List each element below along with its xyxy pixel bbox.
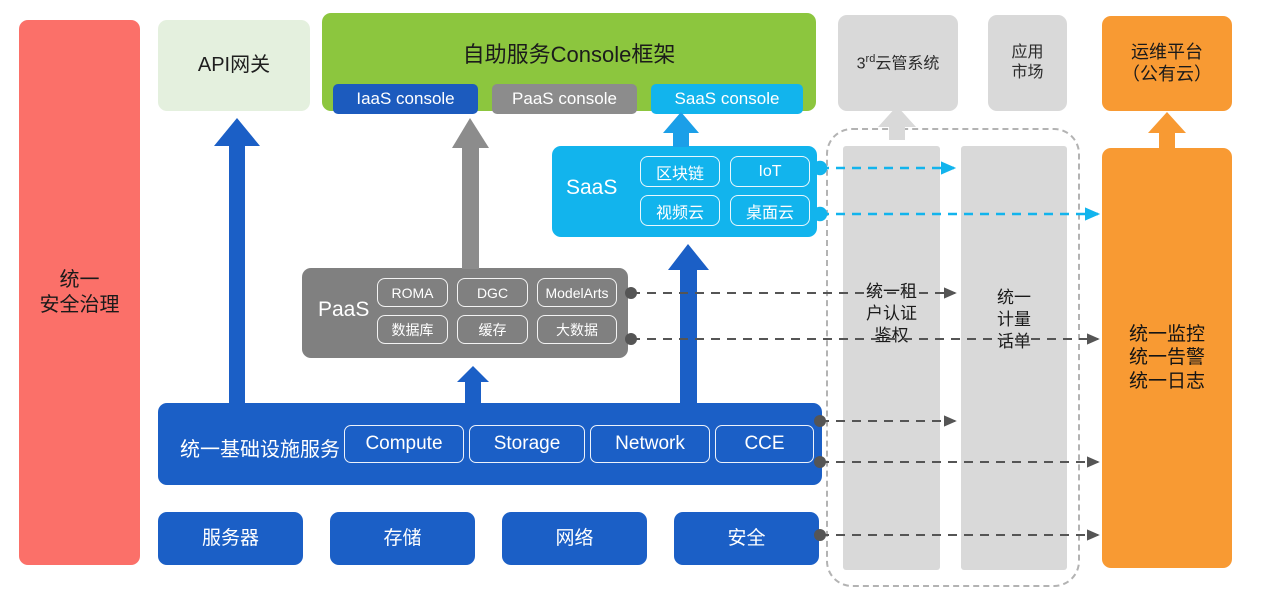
metering-line1: 统一 [961, 287, 1067, 309]
tenant-auth-label: 统一租 户认证 鉴权 [843, 281, 940, 346]
saas-item-desktop-cloud-label: 桌面云 [746, 199, 794, 223]
paas-item-roma[interactable]: ROMA [377, 278, 448, 307]
tenant-auth-line3: 鉴权 [843, 325, 940, 347]
security-label-line1: 统一 [60, 268, 100, 292]
infrastructure-label: 统一基础设施服务 [180, 433, 340, 462]
saas-item-desktop-cloud[interactable]: 桌面云 [730, 195, 810, 226]
paas-item-dgc-label: DGC [477, 285, 508, 301]
third-party-label: 3rd云管系统 [857, 53, 940, 74]
paas-item-dgc[interactable]: DGC [457, 278, 528, 307]
saas-item-video-cloud-label: 视频云 [656, 199, 704, 223]
tenant-auth-column [843, 146, 940, 570]
ops-platform-box[interactable]: 运维平台 （公有云） [1102, 16, 1232, 111]
security-label-line2: 安全治理 [40, 293, 120, 317]
paas-item-bigdata-label: 大数据 [556, 320, 598, 340]
arrow-monitoring-to-ops-platform [1148, 112, 1186, 150]
infra-item-compute[interactable]: Compute [344, 425, 464, 463]
arrow-paas-to-console [452, 118, 489, 269]
saas-item-blockchain-label: 区块链 [656, 160, 704, 184]
saas-item-iot[interactable]: IoT [730, 156, 810, 187]
console-chip-paas-label: PaaS console [512, 89, 617, 109]
paas-item-modelarts-label: ModelArts [545, 285, 608, 301]
infra-item-cce[interactable]: CCE [715, 425, 814, 463]
app-market-box[interactable]: 应用 市场 [988, 15, 1067, 111]
third-party-cloud-box[interactable]: 3rd云管系统 [838, 15, 958, 111]
hardware-item-storage[interactable]: 存储 [330, 512, 475, 565]
saas-item-video-cloud[interactable]: 视频云 [640, 195, 720, 226]
console-chip-paas[interactable]: PaaS console [492, 84, 637, 114]
infra-item-storage[interactable]: Storage [469, 425, 585, 463]
saas-label: SaaS [566, 176, 617, 200]
monitoring-line3: 统一日志 [1129, 370, 1205, 393]
hardware-item-network[interactable]: 网络 [502, 512, 647, 565]
ops-platform-line1: 运维平台 [1131, 42, 1203, 64]
metering-line2: 计量 [961, 309, 1067, 331]
infra-item-storage-label: Storage [494, 433, 561, 455]
console-chip-iaas[interactable]: IaaS console [333, 84, 478, 114]
paas-label: PaaS [318, 298, 369, 322]
console-chip-iaas-label: IaaS console [356, 89, 454, 109]
api-gateway-box[interactable]: API网关 [158, 20, 310, 111]
unified-security-panel: 统一 安全治理 [19, 20, 140, 565]
paas-item-database[interactable]: 数据库 [377, 315, 448, 344]
paas-item-modelarts[interactable]: ModelArts [537, 278, 617, 307]
hardware-item-server-label: 服务器 [202, 527, 259, 550]
api-gateway-label: API网关 [198, 53, 270, 77]
paas-item-cache[interactable]: 缓存 [457, 315, 528, 344]
console-chip-saas[interactable]: SaaS console [651, 84, 803, 114]
arrow-saas-to-saas-console [663, 112, 699, 147]
infra-item-compute-label: Compute [365, 433, 442, 455]
monitoring-line2: 统一告警 [1129, 346, 1205, 369]
tenant-auth-line1: 统一租 [843, 281, 940, 303]
arrow-infra-to-saas [668, 244, 709, 404]
hardware-item-network-label: 网络 [555, 527, 593, 550]
console-chip-saas-label: SaaS console [675, 89, 780, 109]
architecture-diagram: 统一 安全治理 API网关 自助服务Console框架 IaaS console… [0, 0, 1265, 605]
paas-item-roma-label: ROMA [392, 285, 434, 301]
paas-item-cache-label: 缓存 [479, 320, 507, 340]
unified-monitoring-panel: 统一监控 统一告警 统一日志 [1102, 148, 1232, 568]
arrow-infra-to-api-gateway [214, 118, 260, 403]
paas-block: PaaS ROMA DGC ModelArts 数据库 缓存 大数据 [302, 268, 628, 358]
tenant-auth-line2: 户认证 [843, 303, 940, 325]
unified-infrastructure-bar: 统一基础设施服务 Compute Storage Network CCE [158, 403, 822, 485]
metering-label: 统一 计量 话单 [961, 287, 1067, 352]
infra-item-network-label: Network [615, 433, 685, 455]
infra-item-cce-label: CCE [744, 433, 784, 455]
app-market-line1: 应用 [1011, 43, 1043, 63]
hardware-item-server[interactable]: 服务器 [158, 512, 303, 565]
paas-item-bigdata[interactable]: 大数据 [537, 315, 617, 344]
arrow-infra-to-paas [457, 366, 489, 404]
console-title: 自助服务Console框架 [322, 37, 816, 69]
saas-item-iot-label: IoT [758, 163, 781, 181]
saas-item-blockchain[interactable]: 区块链 [640, 156, 720, 187]
hardware-item-security[interactable]: 安全 [674, 512, 819, 565]
hardware-item-security-label: 安全 [727, 527, 765, 550]
metering-column [961, 146, 1067, 570]
hardware-item-storage-label: 存储 [383, 527, 421, 550]
saas-block: SaaS 区块链 IoT 视频云 桌面云 [552, 146, 817, 237]
app-market-line2: 市场 [1011, 63, 1043, 83]
paas-item-database-label: 数据库 [392, 320, 434, 340]
console-frame: 自助服务Console框架 IaaS console PaaS console … [322, 13, 816, 111]
ops-platform-line2: （公有云） [1122, 64, 1212, 86]
metering-line3: 话单 [961, 331, 1067, 353]
infra-item-network[interactable]: Network [590, 425, 710, 463]
monitoring-line1: 统一监控 [1129, 323, 1205, 346]
